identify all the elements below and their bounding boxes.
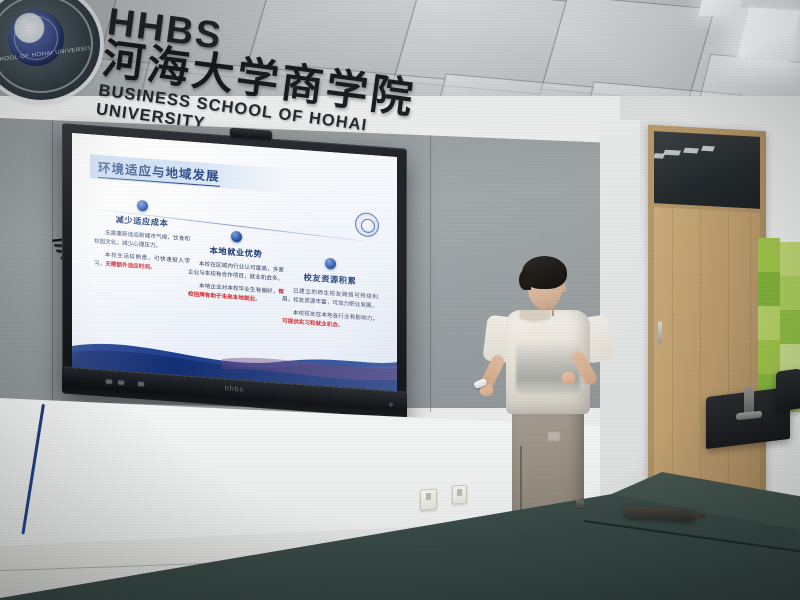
column-paragraph: 本校在区域内行业认可度高，多家企业与本校有合作项目，就业机会多。 <box>188 260 284 285</box>
light-switch[interactable] <box>452 484 467 504</box>
bullet-dot-icon <box>137 200 148 212</box>
ceiling-light-panel <box>736 6 800 62</box>
presenter-hair <box>522 256 567 289</box>
column-paragraph: 本地企业对本校毕业生有偏好，帮校招牌有助于未来本地就业。 <box>188 282 284 307</box>
column-paragraph: 本校校友在本地各行业有影响力，可提供实习和就业机会。 <box>282 309 378 334</box>
column-title: 校友资源积累 <box>282 270 378 289</box>
column-paragraph: 本校生活较熟悉，可快速投入学习，无需额外适应时间。 <box>94 251 190 276</box>
slide-column-2: 本地就业优势 本校在区域内行业认可度高，多家企业与本校有合作项目，就业机会多。 … <box>188 228 284 311</box>
slide-emblem-icon <box>355 212 379 238</box>
table-clip <box>576 500 584 509</box>
column-title: 本地就业优势 <box>188 243 284 262</box>
presentation-slide: 环境适应与地域发展 减少适应成本 无需重新适应新城市气候、饮食和校园文化，减少心… <box>72 133 397 392</box>
column-paragraph: 无需重新适应新城市气候、饮食和校园文化，减少心理压力。 <box>94 229 190 254</box>
highlight-text: 无需额外适应时间 <box>105 262 150 271</box>
tshirt-collar <box>518 310 552 323</box>
door-transom-window <box>654 131 760 209</box>
display-screen[interactable]: 环境适应与地域发展 减少适应成本 无需重新适应新城市气候、饮食和校园文化，减少心… <box>72 133 397 392</box>
display-menu-button[interactable] <box>118 380 124 384</box>
slide-column-3: 校友资源积累 已建立的师生校友网络可持续利用，校友资源丰富，可加力职业发展。 本… <box>282 255 378 338</box>
bullet-dot-icon <box>231 231 242 243</box>
door-handle[interactable] <box>658 321 662 343</box>
room-door[interactable] <box>648 125 766 526</box>
trouser-logo <box>548 432 560 441</box>
interactive-display[interactable]: 环境适应与地域发展 减少适应成本 无需重新适应新城市气候、饮食和校园文化，减少心… <box>62 123 407 419</box>
classroom-photo-scene: SCHOOL OF HOHAI UNIVERSITY HHBS 河海大学商学院 … <box>0 0 800 600</box>
bullet-dot-icon <box>325 258 336 270</box>
tshirt-graphic-print <box>516 340 580 394</box>
conference-chair[interactable] <box>776 368 800 412</box>
paragraph-tail: 。 <box>338 323 344 329</box>
paragraph-tail: 。 <box>150 265 156 271</box>
slide-column-1: 减少适应成本 无需重新适应新城市气候、饮食和校园文化，减少心理压力。 本校生活较… <box>94 197 190 280</box>
display-power-button[interactable] <box>106 379 112 383</box>
display-brand-mark: hhbs <box>225 385 244 393</box>
ceiling-light-panel-secondary <box>698 0 742 16</box>
paragraph-tail: 。 <box>255 297 261 303</box>
power-outlet[interactable] <box>420 488 437 510</box>
column-paragraph: 已建立的师生校友网络可持续利用，校友资源丰富，可加力职业发展。 <box>282 287 378 312</box>
highlight-text: 可提供实习和就业机会 <box>282 319 338 329</box>
door-panel <box>654 207 760 520</box>
column-title: 减少适应成本 <box>94 212 190 231</box>
ir-receiver-icon <box>389 402 393 406</box>
hand-right <box>562 372 575 384</box>
display-source-button[interactable] <box>138 382 144 386</box>
